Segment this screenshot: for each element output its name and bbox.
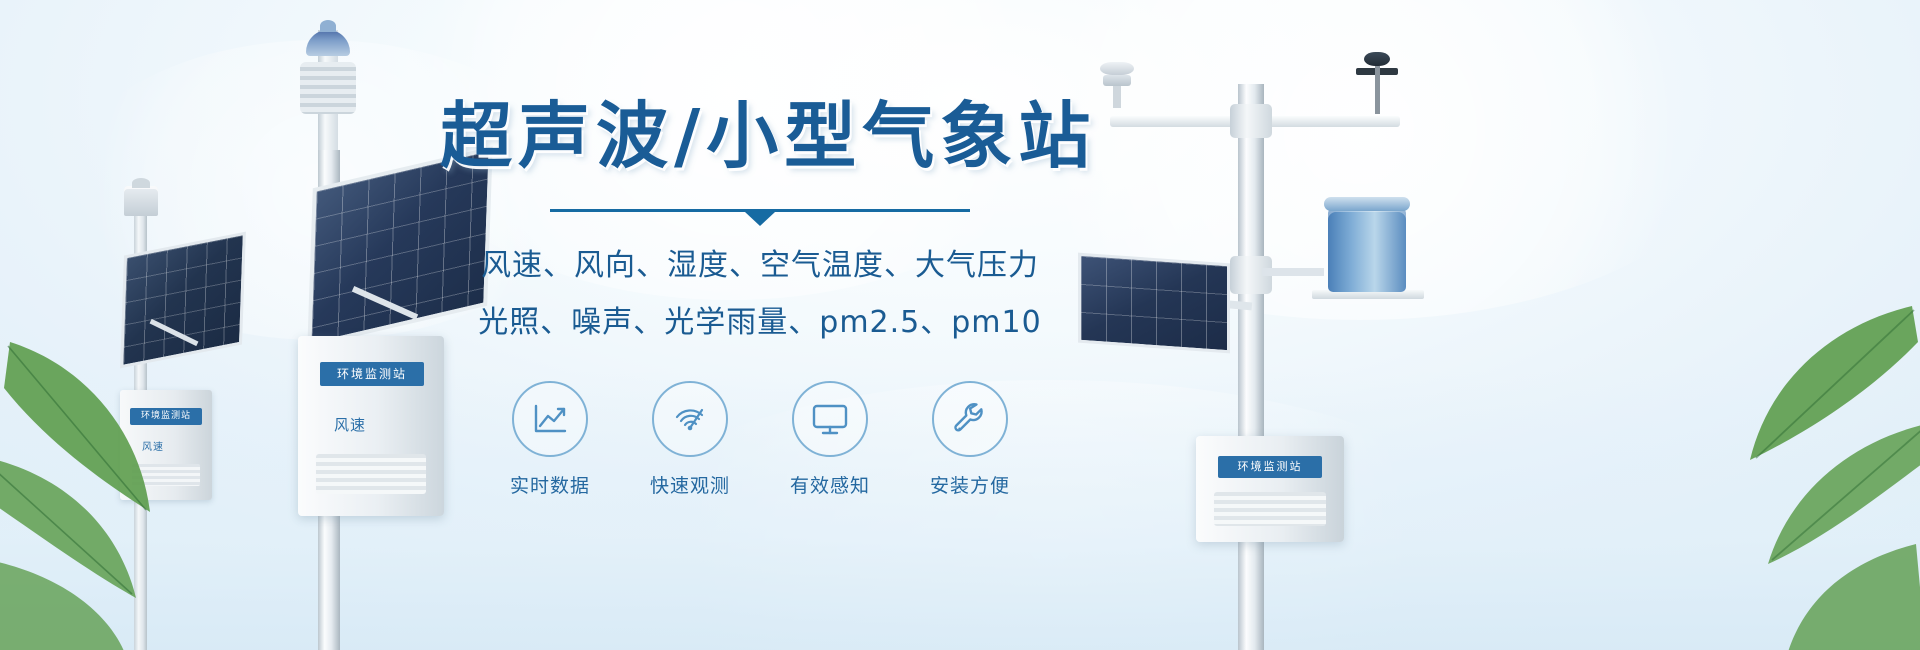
- right-station-wind-vane: [1358, 52, 1396, 114]
- wrench-icon: [951, 400, 989, 438]
- device-vent-louvers: [1214, 492, 1326, 526]
- feature-item-easy-installation[interactable]: 安装方便: [922, 381, 1018, 498]
- title-divider: [550, 209, 970, 212]
- right-station-ultrasonic-sensor: [1100, 62, 1134, 102]
- page-title: 超声波/小型气象站: [440, 96, 1080, 177]
- left-small-station-sensor: [124, 186, 158, 216]
- right-station-upper-collar: [1230, 104, 1272, 138]
- feature-label: 实时数据: [502, 471, 598, 498]
- subtitle-line-1: 风速、风向、湿度、空气温度、大气压力: [440, 238, 1080, 294]
- feature-list: 实时数据 快速观测: [440, 381, 1080, 498]
- feature-label: 有效感知: [782, 471, 878, 498]
- right-station-shelf-arm: [1262, 268, 1324, 276]
- leaf-decoration-left: [0, 336, 180, 650]
- device-brand-logo: 风速: [334, 414, 366, 435]
- banner-text-block: 超声波/小型气象站 风速、风向、湿度、空气温度、大气压力 光照、噪声、光学雨量、…: [440, 96, 1080, 498]
- divider-triangle-icon: [745, 212, 775, 226]
- leaf-decoration-right: [1716, 292, 1920, 650]
- feature-icon-circle: [792, 381, 868, 457]
- device-nameplate: 环境监测站: [1218, 456, 1322, 478]
- right-station-enclosure: 环境监测站: [1196, 436, 1344, 542]
- device-nameplate-text: 环境监测站: [1218, 456, 1322, 478]
- left-tall-station-enclosure: 环境监测站 风速: [298, 336, 444, 516]
- feature-item-effective-sensing[interactable]: 有效感知: [782, 381, 878, 498]
- right-station-pole: [1238, 84, 1264, 650]
- device-nameplate: 环境监测站: [320, 362, 424, 386]
- line-chart-icon: [531, 402, 569, 436]
- feature-label: 安装方便: [922, 471, 1018, 498]
- right-station-rain-gauge: [1328, 206, 1406, 292]
- signal-radar-icon: [671, 401, 709, 437]
- product-banner: 环境监测站 风速 环境监测站 风速 环境监测站 超声波/小型气象站: [0, 0, 1920, 650]
- device-vent-louvers: [316, 454, 426, 494]
- left-tall-station-radiation-dome: [306, 30, 350, 56]
- feature-icon-circle: [932, 381, 1008, 457]
- left-tall-station-radiation-shield: [300, 62, 356, 114]
- right-station-solar-panel: [1078, 253, 1230, 354]
- feature-item-fast-observation[interactable]: 快速观测: [642, 381, 738, 498]
- monitor-screen-icon: [810, 402, 850, 436]
- feature-label: 快速观测: [642, 471, 738, 498]
- subtitle-line-2: 光照、噪声、光学雨量、pm2.5、pm10: [440, 295, 1080, 351]
- feature-icon-circle: [512, 381, 588, 457]
- feature-item-realtime-data[interactable]: 实时数据: [502, 381, 598, 498]
- feature-icon-circle: [652, 381, 728, 457]
- device-nameplate-text: 环境监测站: [320, 362, 424, 386]
